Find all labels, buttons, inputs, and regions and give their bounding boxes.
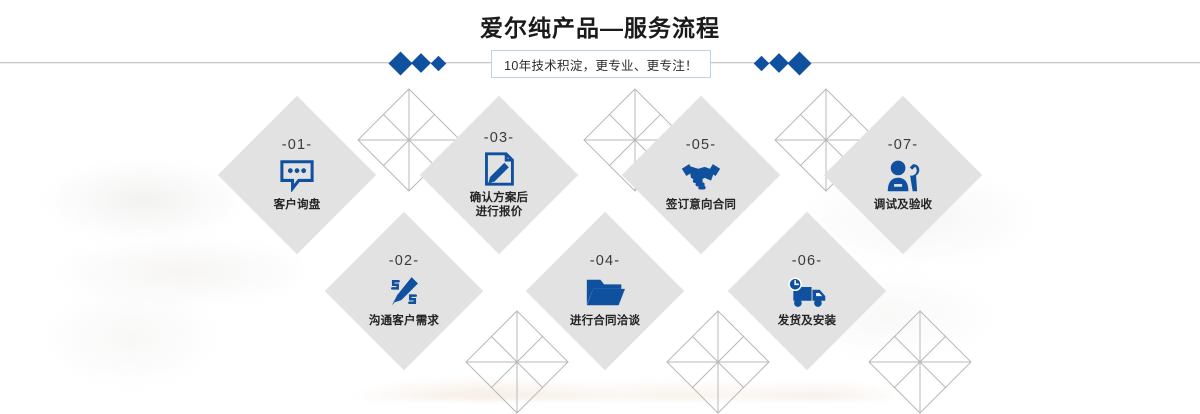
step-label: 进行合同洽谈 bbox=[570, 314, 640, 328]
diamond-icon bbox=[411, 53, 431, 73]
subtitle-text: 10年技术积淀，更专业、更专注！ bbox=[504, 55, 698, 74]
speech-bubble-icon bbox=[276, 157, 318, 195]
delivery-truck-icon bbox=[786, 273, 828, 311]
flow-step-node[interactable]: -03- 确认方案后 进行报价 bbox=[420, 96, 578, 254]
document-pencil-icon bbox=[478, 150, 520, 188]
diamond-icon bbox=[431, 55, 447, 71]
step-number: -04- bbox=[590, 254, 621, 269]
step-label: 调试及验收 bbox=[874, 198, 933, 212]
diamond-icon bbox=[388, 51, 412, 75]
flow-step-node[interactable]: -07- 调试及验收 bbox=[824, 96, 982, 254]
step-label: 发货及安装 bbox=[778, 314, 837, 328]
decorative-pinwheel-diamond bbox=[868, 310, 972, 414]
flow-step-node[interactable]: -01- 客户询盘 bbox=[218, 96, 376, 254]
step-number: -03- bbox=[484, 131, 515, 146]
step-label: 签订意向合同 bbox=[666, 198, 736, 212]
section-header: 爱尔纯产品—服务流程 10年技术积淀，更专业、更专注！ bbox=[0, 0, 1200, 92]
handshake-icon bbox=[680, 157, 722, 195]
flow-step-node[interactable]: -06- 发货及安装 bbox=[728, 212, 886, 370]
step-label: 沟通客户需求 bbox=[369, 314, 439, 328]
step-number: -05- bbox=[686, 138, 717, 153]
service-process-flow: -01- 客户询盘 -02- bbox=[0, 92, 1200, 400]
step-label: 确认方案后 进行报价 bbox=[470, 191, 529, 219]
step-number: -01- bbox=[282, 138, 313, 153]
flow-step-node[interactable]: -05- 签订意向合同 bbox=[622, 96, 780, 254]
pen-signature-icon bbox=[383, 273, 425, 311]
step-number: -07- bbox=[888, 138, 919, 153]
step-number: -06- bbox=[792, 254, 823, 269]
diamond-icon bbox=[754, 55, 770, 71]
subtitle-box: 10年技术积淀，更专业、更专注！ bbox=[491, 50, 711, 78]
diamond-accent-left bbox=[392, 50, 444, 76]
technician-wrench-icon bbox=[882, 157, 924, 195]
step-label: 客户询盘 bbox=[274, 198, 321, 212]
step-number: -02- bbox=[389, 254, 420, 269]
open-folder-icon bbox=[584, 273, 626, 311]
diamond-icon bbox=[769, 53, 789, 73]
page-title: 爱尔纯产品—服务流程 bbox=[0, 13, 1200, 43]
diamond-icon bbox=[787, 51, 811, 75]
flow-step-node[interactable]: -04- 进行合同洽谈 bbox=[526, 212, 684, 370]
diamond-accent-right bbox=[756, 50, 808, 76]
flow-step-node[interactable]: -02- 沟通客户需求 bbox=[325, 212, 483, 370]
